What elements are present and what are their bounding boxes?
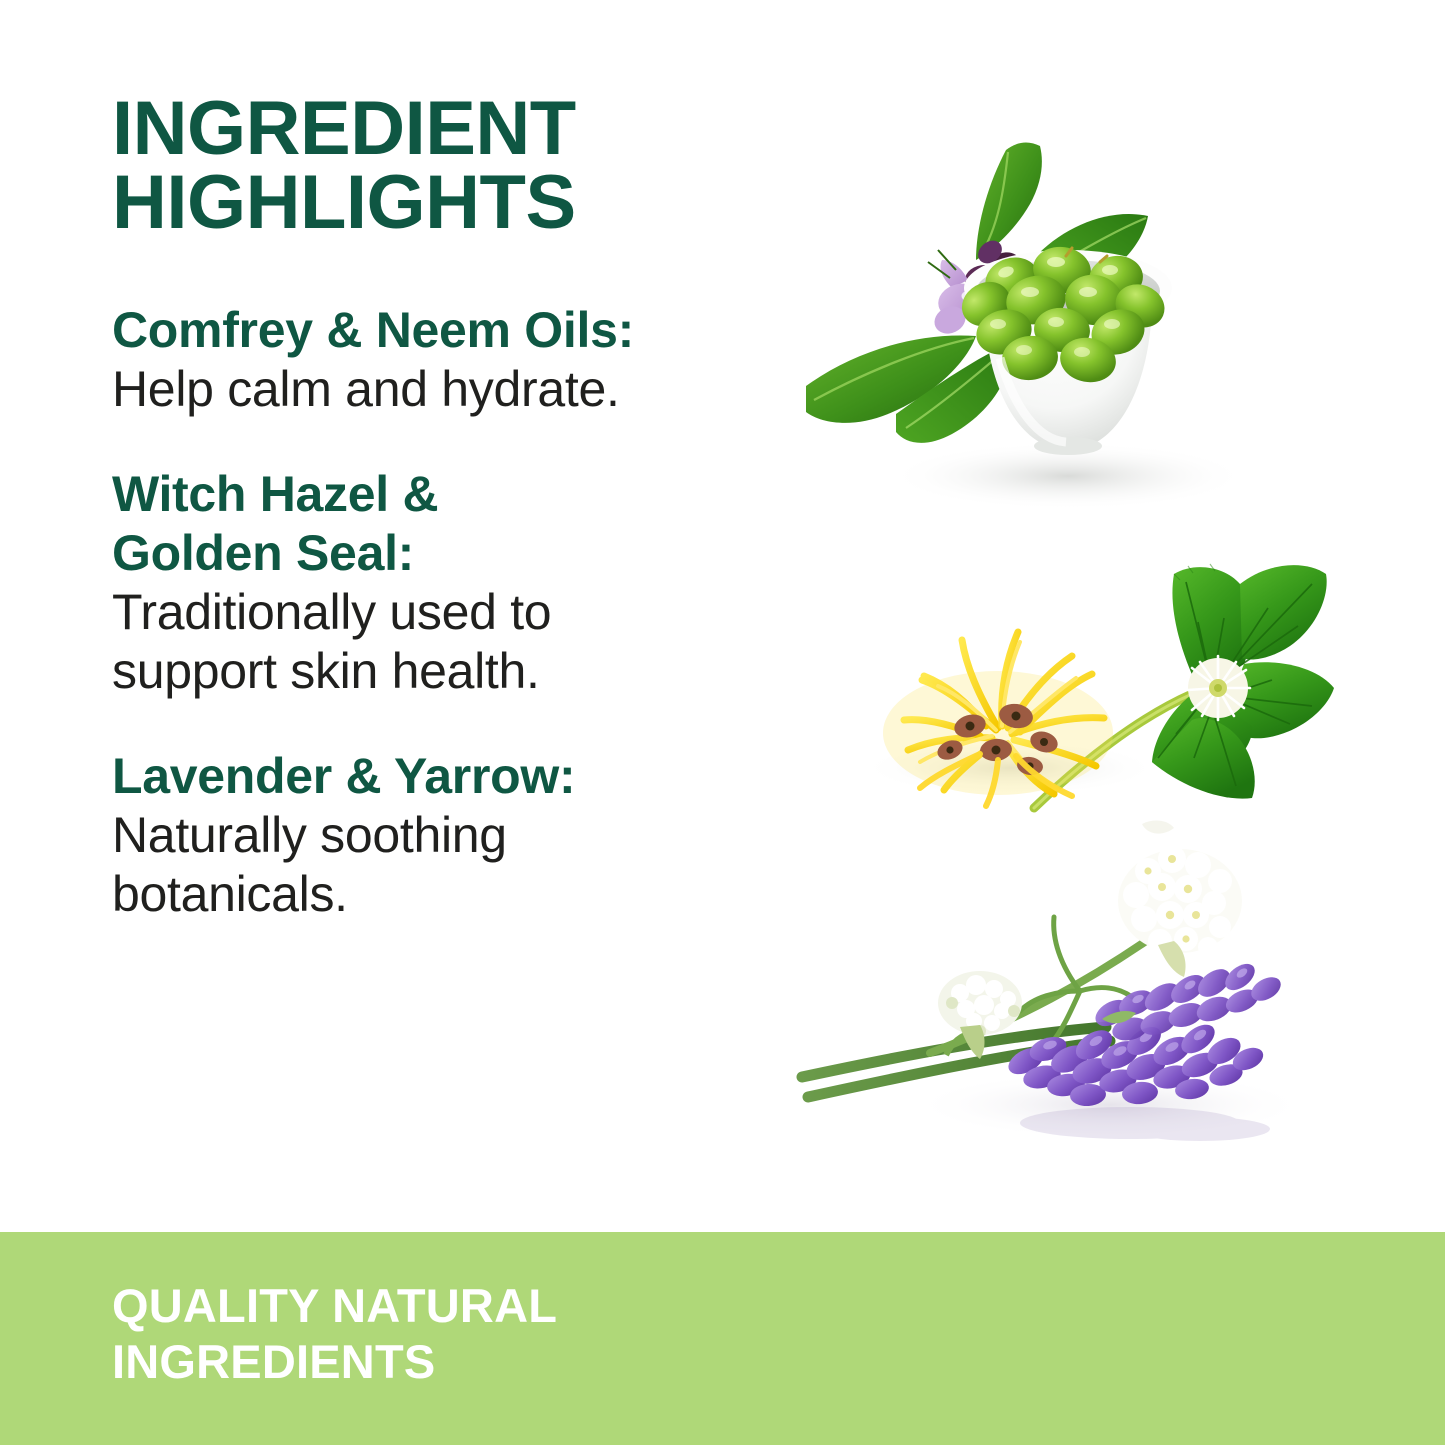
image-column — [760, 0, 1445, 1232]
neem-olives-bowl-photo — [800, 128, 1320, 558]
lavender-spike-back — [1091, 959, 1285, 1044]
ingredient-description: Help calm and hydrate. — [112, 360, 752, 419]
ingredient-highlights-page: INGREDIENT HIGHLIGHTS Comfrey & Neem Oil… — [0, 0, 1445, 1445]
lavender-yarrow-photo — [780, 805, 1340, 1165]
text-column: INGREDIENT HIGHLIGHTS Comfrey & Neem Oil… — [112, 92, 752, 924]
page-title: INGREDIENT HIGHLIGHTS — [112, 92, 752, 239]
footer-banner-text: QUALITY NATURAL INGREDIENTS — [112, 1278, 557, 1391]
ingredient-description: Naturally soothing botanicals. — [112, 806, 752, 924]
yarrow-flower-head — [1118, 845, 1242, 977]
ingredient-description: Traditionally used to support skin healt… — [112, 583, 752, 701]
ingredient-item-witch-hazel-goldenseal: Witch Hazel & Golden Seal: Traditionally… — [112, 465, 752, 701]
ingredient-label: Lavender & Yarrow: — [112, 747, 752, 806]
footer-banner: QUALITY NATURAL INGREDIENTS — [0, 1232, 1445, 1445]
yarrow-bud — [938, 971, 1022, 1059]
ingredient-label: Witch Hazel & Golden Seal: — [112, 465, 752, 583]
ingredient-label: Comfrey & Neem Oils: — [112, 301, 752, 360]
ingredient-item-comfrey-neem: Comfrey & Neem Oils: Help calm and hydra… — [112, 301, 752, 419]
ingredient-item-lavender-yarrow: Lavender & Yarrow: Naturally soothing bo… — [112, 747, 752, 924]
ingredient-list: Comfrey & Neem Oils: Help calm and hydra… — [112, 301, 752, 924]
comfrey-leaf-upper — [976, 143, 1042, 260]
